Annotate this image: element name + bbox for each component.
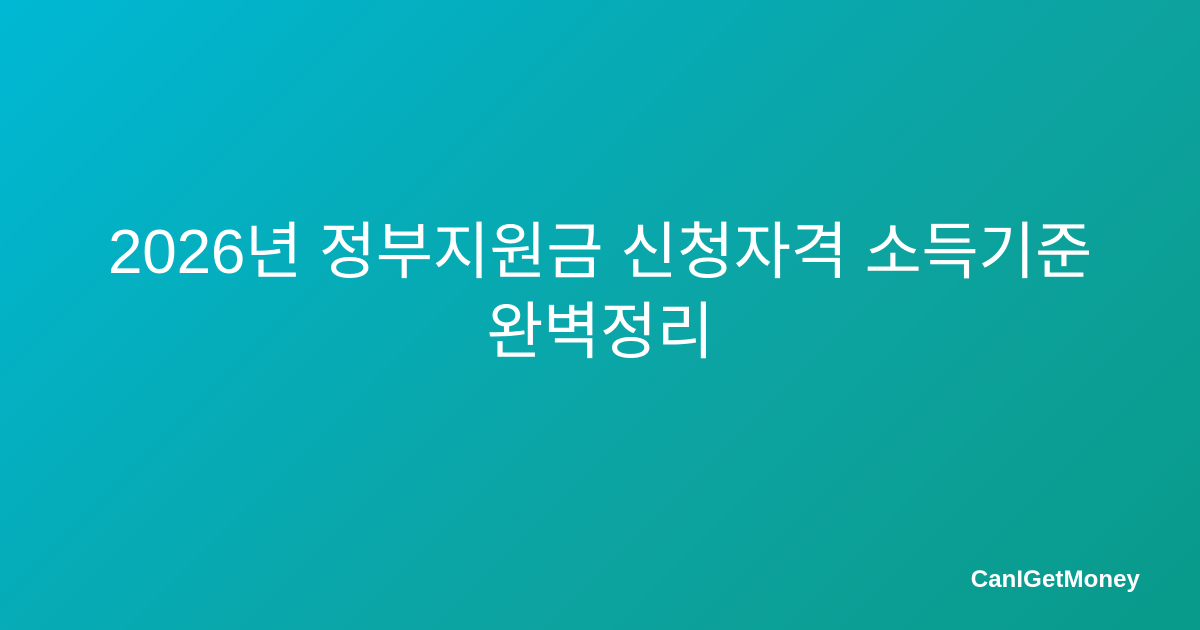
page-title: 2026년 정부지원금 신청자격 소득기준 완벽정리: [82, 213, 1118, 373]
site-brand-name: CanIGetMoney: [971, 568, 1140, 592]
og-share-card: 2026년 정부지원금 신청자격 소득기준 완벽정리 CanIGetMoney: [0, 0, 1200, 630]
title-container: 2026년 정부지원금 신청자격 소득기준 완벽정리: [0, 0, 1200, 630]
